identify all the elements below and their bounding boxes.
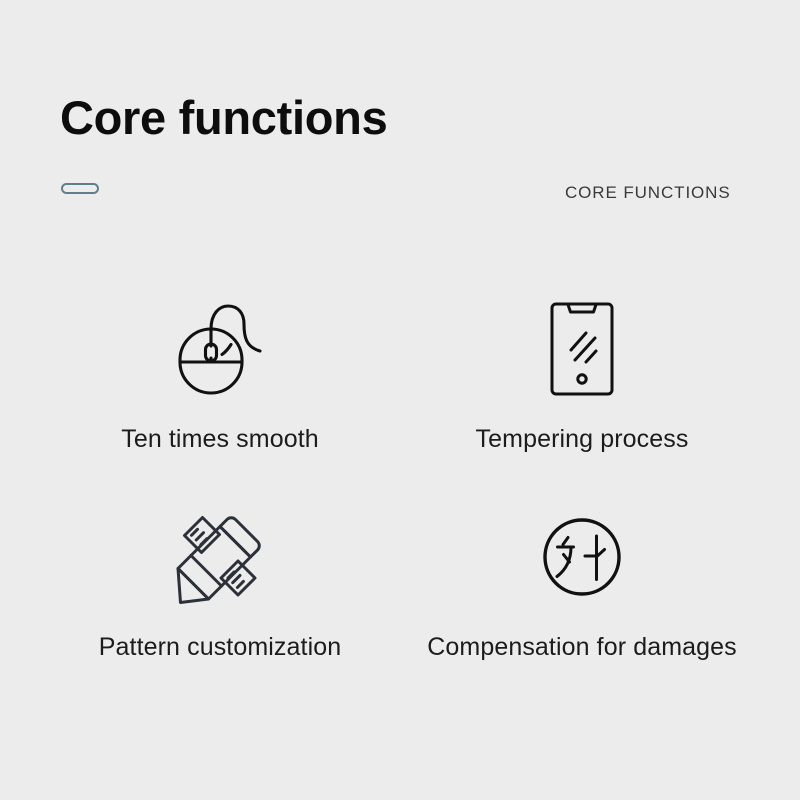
feature-grid: Ten times smooth Tempering process: [0, 285, 800, 705]
title-accent-bar: [61, 183, 99, 194]
pencil-ruler-icon: [40, 493, 400, 621]
feature-label: Pattern customization: [40, 633, 400, 662]
feature-card-ten-times-smooth[interactable]: Ten times smooth: [40, 285, 400, 490]
page-title: Core functions: [60, 92, 387, 144]
computer-mouse-icon: [40, 285, 400, 413]
feature-card-tempering-process[interactable]: Tempering process: [402, 285, 762, 490]
smartphone-screen-icon: [402, 285, 762, 413]
compensation-seal-icon: [402, 493, 762, 621]
feature-card-compensation-for-damages[interactable]: Compensation for damages: [402, 493, 762, 698]
core-functions-page: Core functions CORE FUNCTIONS: [0, 0, 800, 800]
page-header: Core functions CORE FUNCTIONS: [0, 0, 800, 230]
section-eyebrow-label: CORE FUNCTIONS: [565, 183, 731, 203]
feature-label: Tempering process: [402, 425, 762, 454]
feature-label: Ten times smooth: [40, 425, 400, 454]
feature-label: Compensation for damages: [402, 633, 762, 662]
feature-card-pattern-customization[interactable]: Pattern customization: [40, 493, 400, 698]
